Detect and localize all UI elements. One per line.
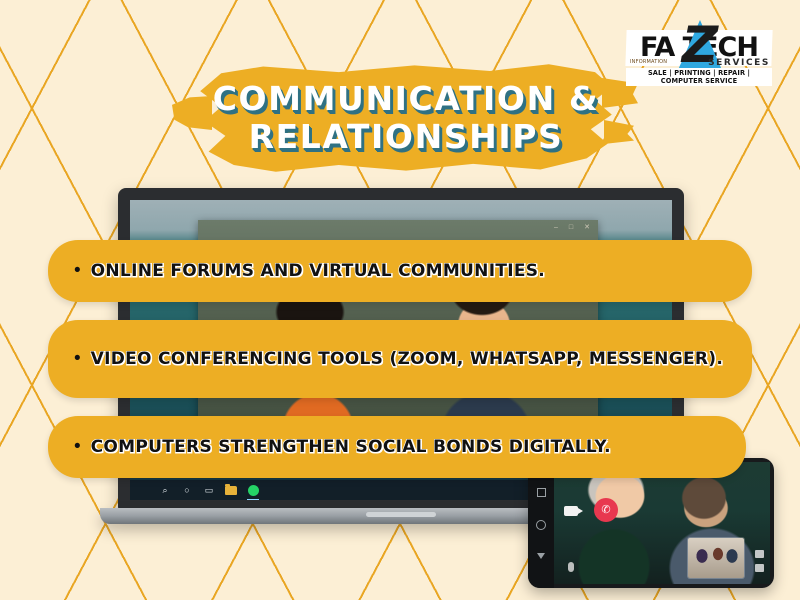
picture-in-picture-thumbnail[interactable] [688,538,744,578]
file-explorer-icon[interactable] [225,484,237,496]
logo-subtext: INFORMATION [630,59,667,65]
cortana-icon[interactable]: ○ [181,484,193,496]
task-view-icon[interactable]: ▭ [203,484,215,496]
bullet-marker: • [74,346,81,372]
slide-canvas: – □ ✕ ⌕ ○ ▭ [0,0,800,600]
recents-button[interactable] [537,488,546,497]
bullet-item-2: • VIDEO CONFERENCING TOOLS (ZOOM, WHATSA… [48,320,752,398]
close-icon[interactable]: ✕ [584,224,590,231]
back-button[interactable] [537,553,545,559]
logo-tagline: SALE | PRINTING | REPAIR | COMPUTER SERV… [626,68,772,86]
more-options-icon[interactable] [755,564,764,572]
title-banner: COMMUNICATION & RELATIONSHIPS [196,62,616,174]
bullet-text-2: VIDEO CONFERENCING TOOLS (ZOOM, WHATSAPP… [91,346,723,372]
end-call-icon[interactable]: ✆ [594,498,618,522]
faztech-logo: FA TECH Z INFORMATION SERVICES SALE | PR… [624,14,774,80]
switch-camera-icon[interactable] [755,550,764,558]
title-line-2: RELATIONSHIPS [249,119,564,155]
bullet-text-1: ONLINE FORUMS AND VIRTUAL COMMUNITIES. [91,258,545,284]
bullet-item-1: • ONLINE FORUMS AND VIRTUAL COMMUNITIES. [48,240,752,302]
camera-toggle-icon[interactable] [564,506,578,516]
maximize-icon[interactable]: □ [569,224,573,231]
bullet-marker: • [74,258,81,284]
title-line-1: COMMUNICATION & [213,81,600,117]
bullet-text-3: COMPUTERS STRENGTHEN SOCIAL BONDS DIGITA… [91,434,611,460]
page-title: COMMUNICATION & RELATIONSHIPS [196,62,616,174]
minimize-icon[interactable]: – [554,224,558,231]
call-controls-strip[interactable] [755,550,764,572]
window-titlebar: – □ ✕ [448,220,598,234]
search-icon[interactable]: ⌕ [159,484,171,496]
home-button[interactable] [536,520,546,530]
laptop-trackpad-notch [366,512,436,517]
phone-video-call-screen: ✆ [554,462,770,584]
logo-services-text: SERVICES [708,58,770,68]
microphone-icon[interactable] [568,562,574,572]
bullet-marker: • [74,434,81,460]
whatsapp-icon[interactable] [247,484,259,496]
start-icon[interactable] [137,484,149,496]
bullet-item-3: • COMPUTERS STRENGTHEN SOCIAL BONDS DIGI… [48,416,746,478]
